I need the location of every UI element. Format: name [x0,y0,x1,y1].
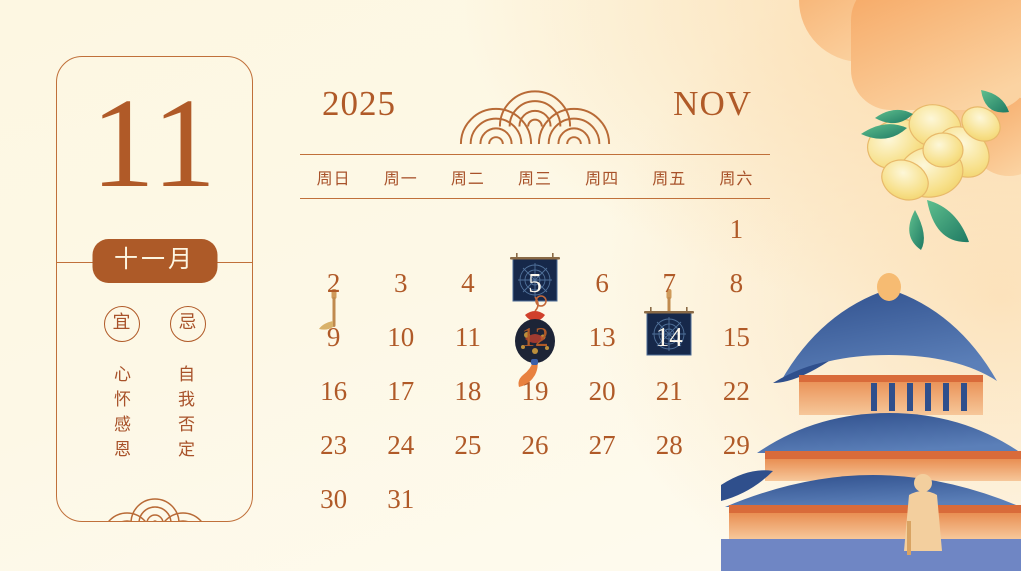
weekday-saturday: 周六 [703,165,770,189]
calendar-day-cell[interactable]: 5 [501,259,568,313]
calendar-day-cell[interactable]: 19 [501,367,568,421]
calendar-day-cell[interactable]: 3 [367,259,434,313]
calendar-day-cell[interactable]: 26 [501,421,568,475]
cloud-arch-motif-icon [95,477,215,522]
month-name-pill[interactable]: 十一月 [92,239,217,283]
calendar-year: 2025 [322,86,396,121]
calendar-day-number: 20 [569,378,636,405]
calendar-weeks: 1234567891011121314151617181920212223242… [300,199,770,529]
calendar-day-cell[interactable]: 11 [434,313,501,367]
calendar-day-number: 17 [367,378,434,405]
cloud-arch-motif-icon [455,66,615,144]
calendar-day-cell[interactable]: 10 [367,313,434,367]
calendar-week-row: 1 [300,205,770,259]
calendar-day-cell-empty [636,475,703,529]
calendar-day-cell[interactable]: 14 [636,313,703,367]
calendar-day-number: 10 [367,324,434,351]
calendar-panel: 2025 NOV 周日 [300,62,770,529]
calendar-day-number: 4 [434,270,501,297]
calendar-day-number: 5 [501,270,568,297]
calendar-day-cell[interactable]: 16 [300,367,367,421]
calendar-day-number: 9 [300,324,367,351]
calendar-day-cell[interactable]: 2 [300,259,367,313]
omen-char: 我 [170,387,204,412]
weekday-header-row: 周日 周一 周二 周三 周四 周五 周六 [300,154,770,199]
calendar-day-number: 31 [367,486,434,513]
calendar-day-number: 21 [636,378,703,405]
calendar-week-row: 9101112131415 [300,313,770,367]
calendar-day-number: 28 [636,432,703,459]
weekday-monday: 周一 [367,165,434,189]
calendar-day-number: 12 [501,324,568,351]
omen-char: 自 [170,362,204,387]
calendar-day-cell[interactable]: 15 [703,313,770,367]
yellow-peony-icon [831,60,1021,250]
calendar-week-row: 2345678 [300,259,770,313]
calendar-day-cell-empty [434,475,501,529]
calendar-day-cell[interactable]: 31 [367,475,434,529]
omen-char: 恩 [106,437,140,462]
weekday-tuesday: 周二 [434,165,501,189]
calendar-day-number: 15 [703,324,770,351]
calendar-day-cell[interactable]: 4 [434,259,501,313]
omen-char: 感 [106,412,140,437]
calendar-day-number: 2 [300,270,367,297]
orange-cloud-icon [741,0,1021,230]
calendar-day-number: 16 [300,378,367,405]
calendar-day-cell[interactable]: 7 [636,259,703,313]
calendar-day-number: 24 [367,432,434,459]
calendar-day-cell[interactable]: 6 [569,259,636,313]
month-number: 11 [57,79,252,207]
calendar-day-number: 8 [703,270,770,297]
calendar-day-number: 13 [569,324,636,351]
calendar-day-number: 30 [300,486,367,513]
calendar-day-cell[interactable]: 25 [434,421,501,475]
calendar-day-number: 1 [703,216,770,243]
calendar-day-number: 7 [636,270,703,297]
calendar-day-cell-empty [501,475,568,529]
calendar-day-cell[interactable]: 29 [703,421,770,475]
calendar-day-cell[interactable]: 30 [300,475,367,529]
calendar-day-cell-empty [569,205,636,259]
calendar-day-cell-empty [636,205,703,259]
omen-text-inauspicious: 自 我 否 定 [170,362,204,462]
calendar-day-cell[interactable]: 17 [367,367,434,421]
calendar-day-number: 22 [703,378,770,405]
calendar-day-cell-empty [569,475,636,529]
calendar-day-cell[interactable]: 27 [569,421,636,475]
omen-char: 定 [170,437,204,462]
calendar-day-cell[interactable]: 23 [300,421,367,475]
calendar-day-cell[interactable]: 22 [703,367,770,421]
calendar-day-number: 25 [434,432,501,459]
calendar-day-cell-empty [703,475,770,529]
calendar-day-number: 3 [367,270,434,297]
calendar-poster: 11 十一月 宜 忌 心 怀 感 恩 自 我 否 定 [0,0,1021,571]
calendar-day-number: 11 [434,324,501,351]
month-info-card: 11 十一月 宜 忌 心 怀 感 恩 自 我 否 定 [56,56,253,522]
weekday-friday: 周五 [636,165,703,189]
calendar-day-cell[interactable]: 20 [569,367,636,421]
omen-text-row: 心 怀 感 恩 自 我 否 定 [57,362,252,462]
calendar-week-row: 23242526272829 [300,421,770,475]
calendar-header: 2025 NOV [300,62,770,154]
calendar-day-cell[interactable]: 9 [300,313,367,367]
calendar-month-abbr: NOV [673,86,752,121]
omen-badge-inauspicious: 忌 [170,306,206,342]
omen-text-auspicious: 心 怀 感 恩 [106,362,140,462]
calendar-week-row: 16171819202122 [300,367,770,421]
calendar-week-row: 3031 [300,475,770,529]
calendar-day-cell-empty [367,205,434,259]
weekday-wednesday: 周三 [501,165,568,189]
calendar-day-number: 6 [569,270,636,297]
calendar-day-number: 29 [703,432,770,459]
calendar-day-number: 18 [434,378,501,405]
calendar-day-cell[interactable]: 24 [367,421,434,475]
omen-char: 心 [106,362,140,387]
calendar-day-number: 26 [501,432,568,459]
calendar-day-number: 27 [569,432,636,459]
calendar-day-cell[interactable]: 21 [636,367,703,421]
weekday-thursday: 周四 [569,165,636,189]
calendar-day-cell[interactable]: 12 [501,313,568,367]
omen-char: 否 [170,412,204,437]
calendar-day-number: 23 [300,432,367,459]
calendar-day-cell-empty [300,205,367,259]
calendar-day-cell[interactable]: 28 [636,421,703,475]
omen-badge-row: 宜 忌 [57,306,252,342]
omen-char: 怀 [106,387,140,412]
calendar-day-cell-empty [434,205,501,259]
calendar-day-cell-empty [501,205,568,259]
calendar-day-cell[interactable]: 8 [703,259,770,313]
calendar-day-cell[interactable]: 13 [569,313,636,367]
calendar-day-cell[interactable]: 1 [703,205,770,259]
omen-badge-auspicious: 宜 [104,306,140,342]
weekday-sunday: 周日 [300,165,367,189]
calendar-day-cell[interactable]: 18 [434,367,501,421]
calendar-day-number: 19 [501,378,568,405]
calendar-day-number: 14 [636,324,703,351]
